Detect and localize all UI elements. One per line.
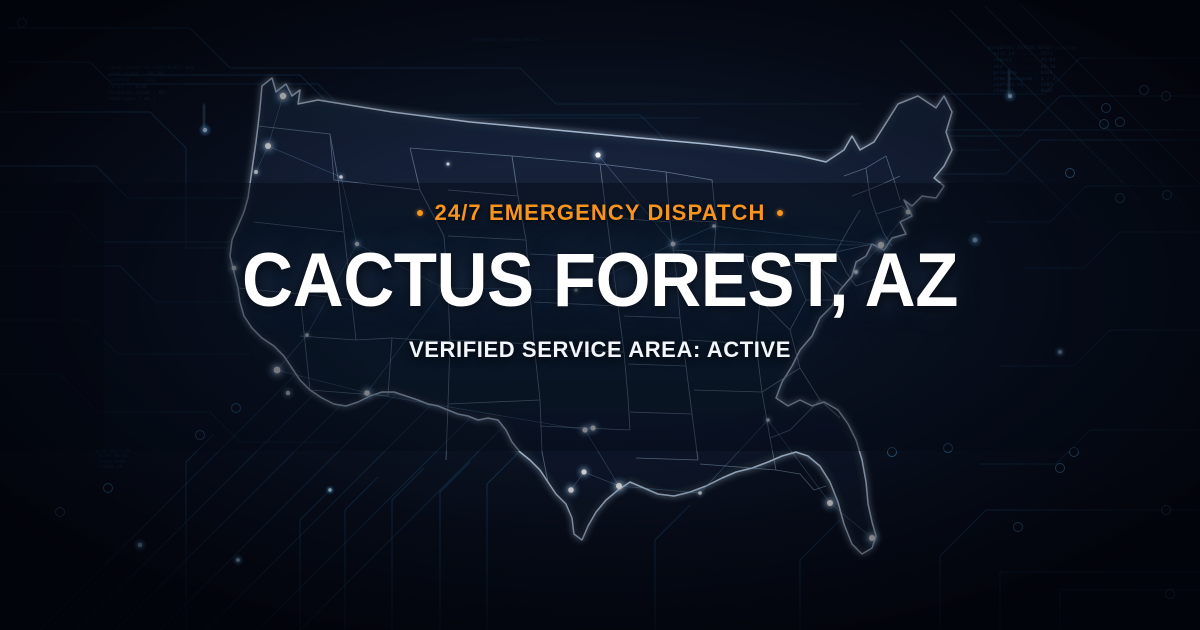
eyebrow-banner: 24/7 EMERGENCY DISPATCH [0,198,1200,228]
city-node-miami [861,527,883,549]
city-node-san-antonio [561,480,581,500]
city-node-tampa [819,492,841,514]
city-node-portland [257,135,279,157]
city-node-san-diego [280,385,296,401]
city-node-phoenix [357,383,377,403]
share-card-canvas: signal.route >> node[0x4F] ack link_stat… [0,0,1200,630]
city-node-dallas [576,421,595,440]
city-node-new-orleans [694,487,707,500]
city-node-seattle [271,84,294,107]
city-node-eugene [249,165,263,179]
city-node-minneapolis [589,146,608,165]
city-node-austin [575,463,594,482]
city-node-houston [608,475,630,497]
status-badge: VERIFIED SERVICE AREA: ACTIVE [0,337,1200,363]
page-title: CACTUS FOREST, AZ [42,239,1158,323]
eyebrow-label: 24/7 EMERGENCY DISPATCH [435,200,766,226]
city-node-atlanta [762,414,775,427]
city-node-boise [335,171,348,184]
bullet-dot-icon [417,210,423,216]
bullet-dot-icon [777,210,783,216]
city-node-billings [442,158,454,170]
hero-content: 24/7 EMERGENCY DISPATCH CACTUS FOREST, A… [0,198,1200,363]
